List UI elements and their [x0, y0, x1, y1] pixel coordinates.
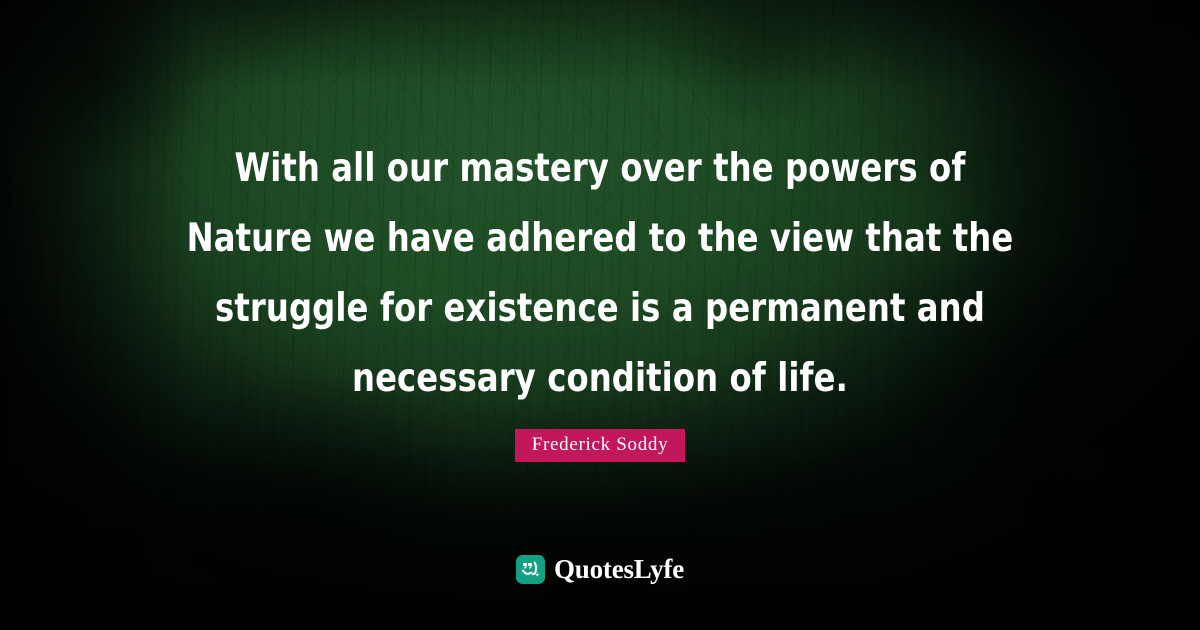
quote-bubble-icon	[516, 555, 545, 584]
quote-text: With all our mastery over the powers of …	[0, 134, 1200, 414]
brand-name: QuotesLyfe	[554, 556, 684, 583]
card-content: With all our mastery over the powers of …	[0, 0, 1200, 630]
quote-line: necessary condition of life.	[131, 344, 1069, 414]
brand-logo[interactable]: QuotesLyfe	[0, 555, 1200, 584]
quote-card: With all our mastery over the powers of …	[0, 0, 1200, 630]
quote-line: struggle for existence is a permanent an…	[131, 274, 1069, 344]
author-container: Frederick Soddy	[0, 429, 1200, 462]
quote-line: Nature we have adhered to the view that …	[131, 204, 1069, 274]
author-badge[interactable]: Frederick Soddy	[515, 429, 686, 462]
quote-line: With all our mastery over the powers of	[131, 134, 1069, 204]
